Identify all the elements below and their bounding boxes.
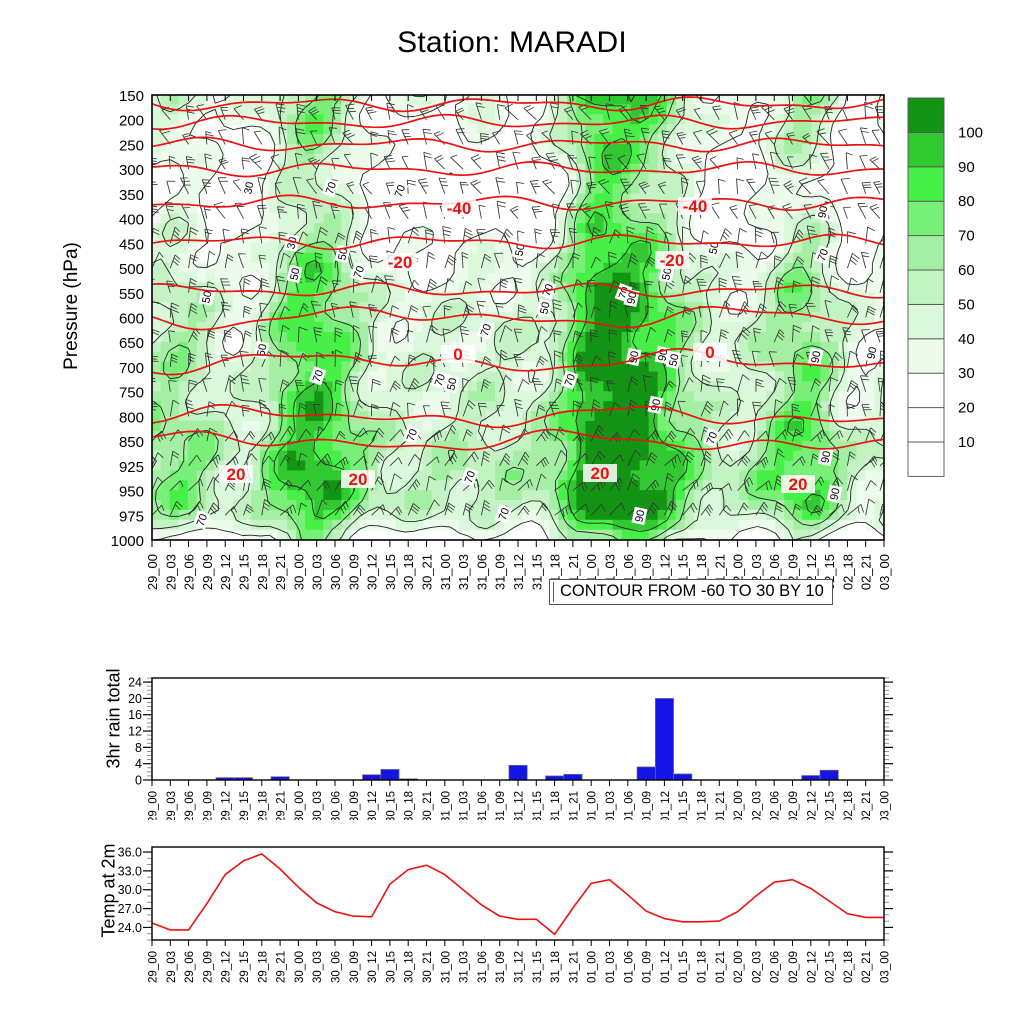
page-title: Station: MARADI [0, 26, 1024, 60]
svg-text:975: 975 [119, 508, 144, 525]
svg-text:550: 550 [119, 286, 144, 303]
rain-panel-frame [152, 678, 884, 780]
svg-text:500: 500 [119, 261, 144, 278]
rain-bar-chart: 04812162024 29_0029_0329_0629_0929_1229_… [0, 660, 1024, 820]
svg-text:750: 750 [119, 385, 144, 402]
rain-time-ticks: 29_0029_0329_0629_0929_1229_1529_1829_21… [148, 780, 892, 820]
temp-time-ticks: 29_0029_0329_0629_0929_1229_1529_1829_21… [148, 940, 892, 983]
svg-text:850: 850 [119, 434, 144, 451]
rain-bars [216, 698, 838, 780]
temp-panel-frame [152, 847, 884, 940]
svg-text:400: 400 [119, 212, 144, 229]
temperature-line-chart: 24.027.030.033.036.0 29_0029_0329_0629_0… [0, 835, 1024, 995]
contour-range-note: CONTOUR FROM -60 TO 30 BY 10 [549, 579, 833, 605]
svg-text:350: 350 [119, 187, 144, 204]
svg-text:650: 650 [119, 335, 144, 352]
svg-text:150: 150 [119, 88, 144, 105]
humidity-cross-section-plot: 1502002503003504004505005506006507007508… [0, 60, 1024, 680]
svg-text:800: 800 [119, 409, 144, 426]
svg-text:200: 200 [119, 113, 144, 130]
svg-text:925: 925 [119, 459, 144, 476]
svg-text:450: 450 [119, 236, 144, 253]
svg-text:600: 600 [119, 311, 144, 328]
svg-text:300: 300 [119, 162, 144, 179]
figure-canvas: Station: MARADI Pressure (hPa) 150200250… [0, 0, 1024, 1024]
humidity-colorbar: 102030405060708090100 [908, 98, 983, 476]
temp-series-line [152, 854, 884, 934]
svg-text:950: 950 [119, 484, 144, 501]
svg-text:700: 700 [119, 360, 144, 377]
temp-tick-labels: 24.027.030.033.036.0 [118, 846, 893, 941]
svg-text:250: 250 [119, 137, 144, 154]
svg-text:1000: 1000 [111, 533, 144, 550]
